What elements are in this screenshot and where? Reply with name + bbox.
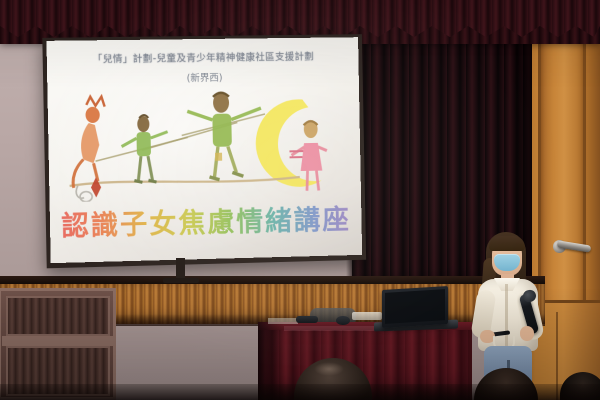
computer-mouse[interactable] [336,316,350,325]
presenter-right-hand [520,326,534,341]
projection-screen-stand [176,258,185,280]
tightrope-children-drawing [58,85,356,203]
projection-screen: 「兒情」計劃-兒童及青少年精神健康社區支援計劃 (新界西) [46,37,362,263]
photo-scene: 「兒情」計劃-兒童及青少年精神健康社區支援計劃 (新界西) [0,0,600,400]
stage-floor-object [352,312,382,320]
presenter-fringe [489,236,525,251]
laptop-screen [385,289,445,324]
foreground-shadow [0,384,600,400]
vent-divider [2,336,114,346]
slide-heading: 認識子女焦慮情緒講座 [56,198,356,244]
vent-louvre-upper [6,296,110,336]
audience-hair-highlight [314,362,344,376]
desk-remote[interactable] [296,316,318,323]
desk-papers [268,318,298,324]
projection-screen-foot [163,278,199,283]
